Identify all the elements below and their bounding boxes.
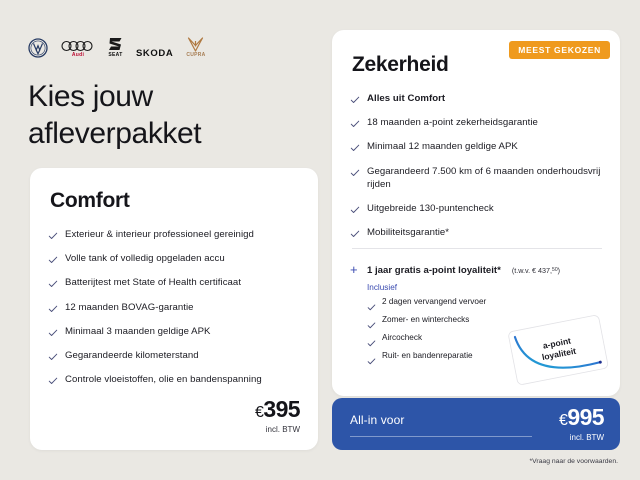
list-item: Minimaal 3 maanden geldige APK — [48, 325, 304, 338]
page-headline: Kies jouw afleverpakket — [28, 79, 308, 152]
list-item: Mobiliteitsgarantie* — [350, 226, 606, 239]
list-item: Uitgebreide 130-puntencheck — [350, 202, 606, 215]
loyalty-offer-row: + 1 jaar gratis a-point loyaliteit* (t.w… — [350, 262, 608, 276]
list-item: Ruit- en bandenreparatie — [367, 351, 486, 362]
inclusief-label: Inclusief — [367, 283, 397, 292]
list-item: 2 dagen vervangend vervoer — [367, 297, 486, 308]
comfort-package-card: Comfort Exterieur & interieur profession… — [30, 168, 318, 450]
allin-label: All-in voor — [350, 413, 404, 427]
zekerheid-package-card: MEEST GEKOZEN Zekerheid Alles uit Comfor… — [332, 30, 620, 396]
audi-wordmark: Audi — [72, 53, 84, 58]
feature-text: Mobiliteitsgarantie* — [367, 226, 449, 239]
list-item: 18 maanden a-point zekerheidsgarantie — [350, 116, 606, 129]
loyalty-value-suffix: ) — [558, 266, 560, 275]
zekerheid-feature-list: Alles uit Comfort 18 maanden a-point zek… — [350, 92, 606, 240]
check-icon — [350, 205, 360, 215]
list-item: Aircocheck — [367, 333, 486, 344]
list-item: Volle tank of volledig opgeladen accu — [48, 252, 304, 265]
check-icon — [350, 119, 360, 129]
check-icon — [367, 317, 376, 326]
section-divider — [352, 248, 602, 249]
check-icon — [350, 95, 360, 105]
feature-text: Gegarandeerde kilometerstand — [65, 349, 199, 362]
terms-footnote: *Vraag naar de voorwaarden. — [529, 458, 618, 465]
check-icon — [48, 231, 58, 241]
comfort-feature-list: Exterieur & interieur professioneel gere… — [48, 228, 304, 387]
inclusion-text: Aircocheck — [382, 333, 422, 344]
check-icon — [350, 229, 360, 239]
feature-text: Alles uit Comfort — [367, 92, 445, 105]
loyalty-value-prefix: (t.w.v. € 437, — [512, 266, 552, 275]
allin-price-note: incl. BTW — [559, 433, 604, 442]
allin-divider — [350, 436, 532, 437]
feature-text: Minimaal 3 maanden geldige APK — [65, 325, 211, 338]
advertisement-page: Audi SEAT SKODA CUPRA Ki — [0, 0, 640, 480]
allin-price: €995 — [559, 406, 604, 429]
comfort-price-block: €395 incl. BTW — [255, 398, 300, 434]
feature-text: Controle vloeistoffen, olie en bandenspa… — [65, 373, 262, 386]
check-icon — [48, 328, 58, 338]
audi-logo: Audi — [61, 28, 95, 58]
comfort-price: €395 — [255, 398, 300, 421]
most-chosen-badge: MEEST GEKOZEN — [509, 41, 610, 59]
feature-text: Uitgebreide 130-puntencheck — [367, 202, 494, 215]
price-value: 395 — [263, 396, 300, 422]
check-icon — [48, 279, 58, 289]
feature-text: Minimaal 12 maanden geldige APK — [367, 140, 518, 153]
check-icon — [48, 255, 58, 265]
feature-text: Volle tank of volledig opgeladen accu — [65, 252, 225, 265]
list-item: Controle vloeistoffen, olie en bandenspa… — [48, 373, 304, 386]
list-item: Batterijtest met State of Health certifi… — [48, 276, 304, 289]
zekerheid-card-title: Zekerheid — [352, 53, 449, 77]
inclusion-text: 2 dagen vervangend vervoer — [382, 297, 486, 308]
skoda-wordmark: SKODA — [136, 49, 173, 59]
brand-logo-bar: Audi SEAT SKODA CUPRA — [28, 28, 206, 58]
plus-icon: + — [350, 263, 360, 276]
inclusion-text: Ruit- en bandenreparatie — [382, 351, 473, 362]
feature-text: 12 maanden BOVAG-garantie — [65, 301, 194, 314]
comfort-card-title: Comfort — [50, 189, 130, 213]
comfort-price-note: incl. BTW — [255, 425, 300, 434]
list-item: Zomer- en winterchecks — [367, 315, 486, 326]
list-item: 12 maanden BOVAG-garantie — [48, 301, 304, 314]
check-icon — [367, 353, 376, 362]
list-item: Gegarandeerd 7.500 km of 6 maanden onder… — [350, 165, 606, 191]
check-icon — [367, 299, 376, 308]
allin-price-block: €995 incl. BTW — [559, 406, 604, 442]
cupra-logo: CUPRA — [186, 28, 205, 58]
feature-text: Batterijtest met State of Health certifi… — [65, 276, 241, 289]
cupra-wordmark: CUPRA — [186, 53, 205, 58]
seat-logo: SEAT — [108, 28, 123, 58]
check-icon — [350, 143, 360, 153]
check-icon — [367, 335, 376, 344]
list-item: Gegarandeerde kilometerstand — [48, 349, 304, 362]
allin-price-footer: All-in voor €995 incl. BTW — [332, 398, 620, 450]
check-icon — [350, 168, 360, 178]
check-icon — [48, 376, 58, 386]
list-item: Minimaal 12 maanden geldige APK — [350, 140, 606, 153]
seat-wordmark: SEAT — [108, 53, 122, 58]
inclusion-text: Zomer- en winterchecks — [382, 315, 469, 326]
loyalty-inclusions-list: 2 dagen vervangend vervoer Zomer- en win… — [367, 297, 486, 369]
list-item: Alles uit Comfort — [350, 92, 606, 105]
check-icon — [48, 352, 58, 362]
list-item: Exterieur & interieur professioneel gere… — [48, 228, 304, 241]
loyalty-card-illustration: a-point loyaliteit — [502, 313, 614, 385]
loyalty-offer-title: 1 jaar gratis a-point loyaliteit* — [367, 265, 501, 276]
skoda-logo: SKODA — [136, 28, 173, 58]
loyalty-offer-value: (t.w.v. € 437,50) — [512, 266, 560, 275]
check-icon — [48, 304, 58, 314]
feature-text: Exterieur & interieur professioneel gere… — [65, 228, 254, 241]
volkswagen-logo — [28, 28, 48, 58]
feature-text: Gegarandeerd 7.500 km of 6 maanden onder… — [367, 165, 606, 191]
price-value: 995 — [567, 404, 604, 430]
feature-text: 18 maanden a-point zekerheidsgarantie — [367, 116, 538, 129]
